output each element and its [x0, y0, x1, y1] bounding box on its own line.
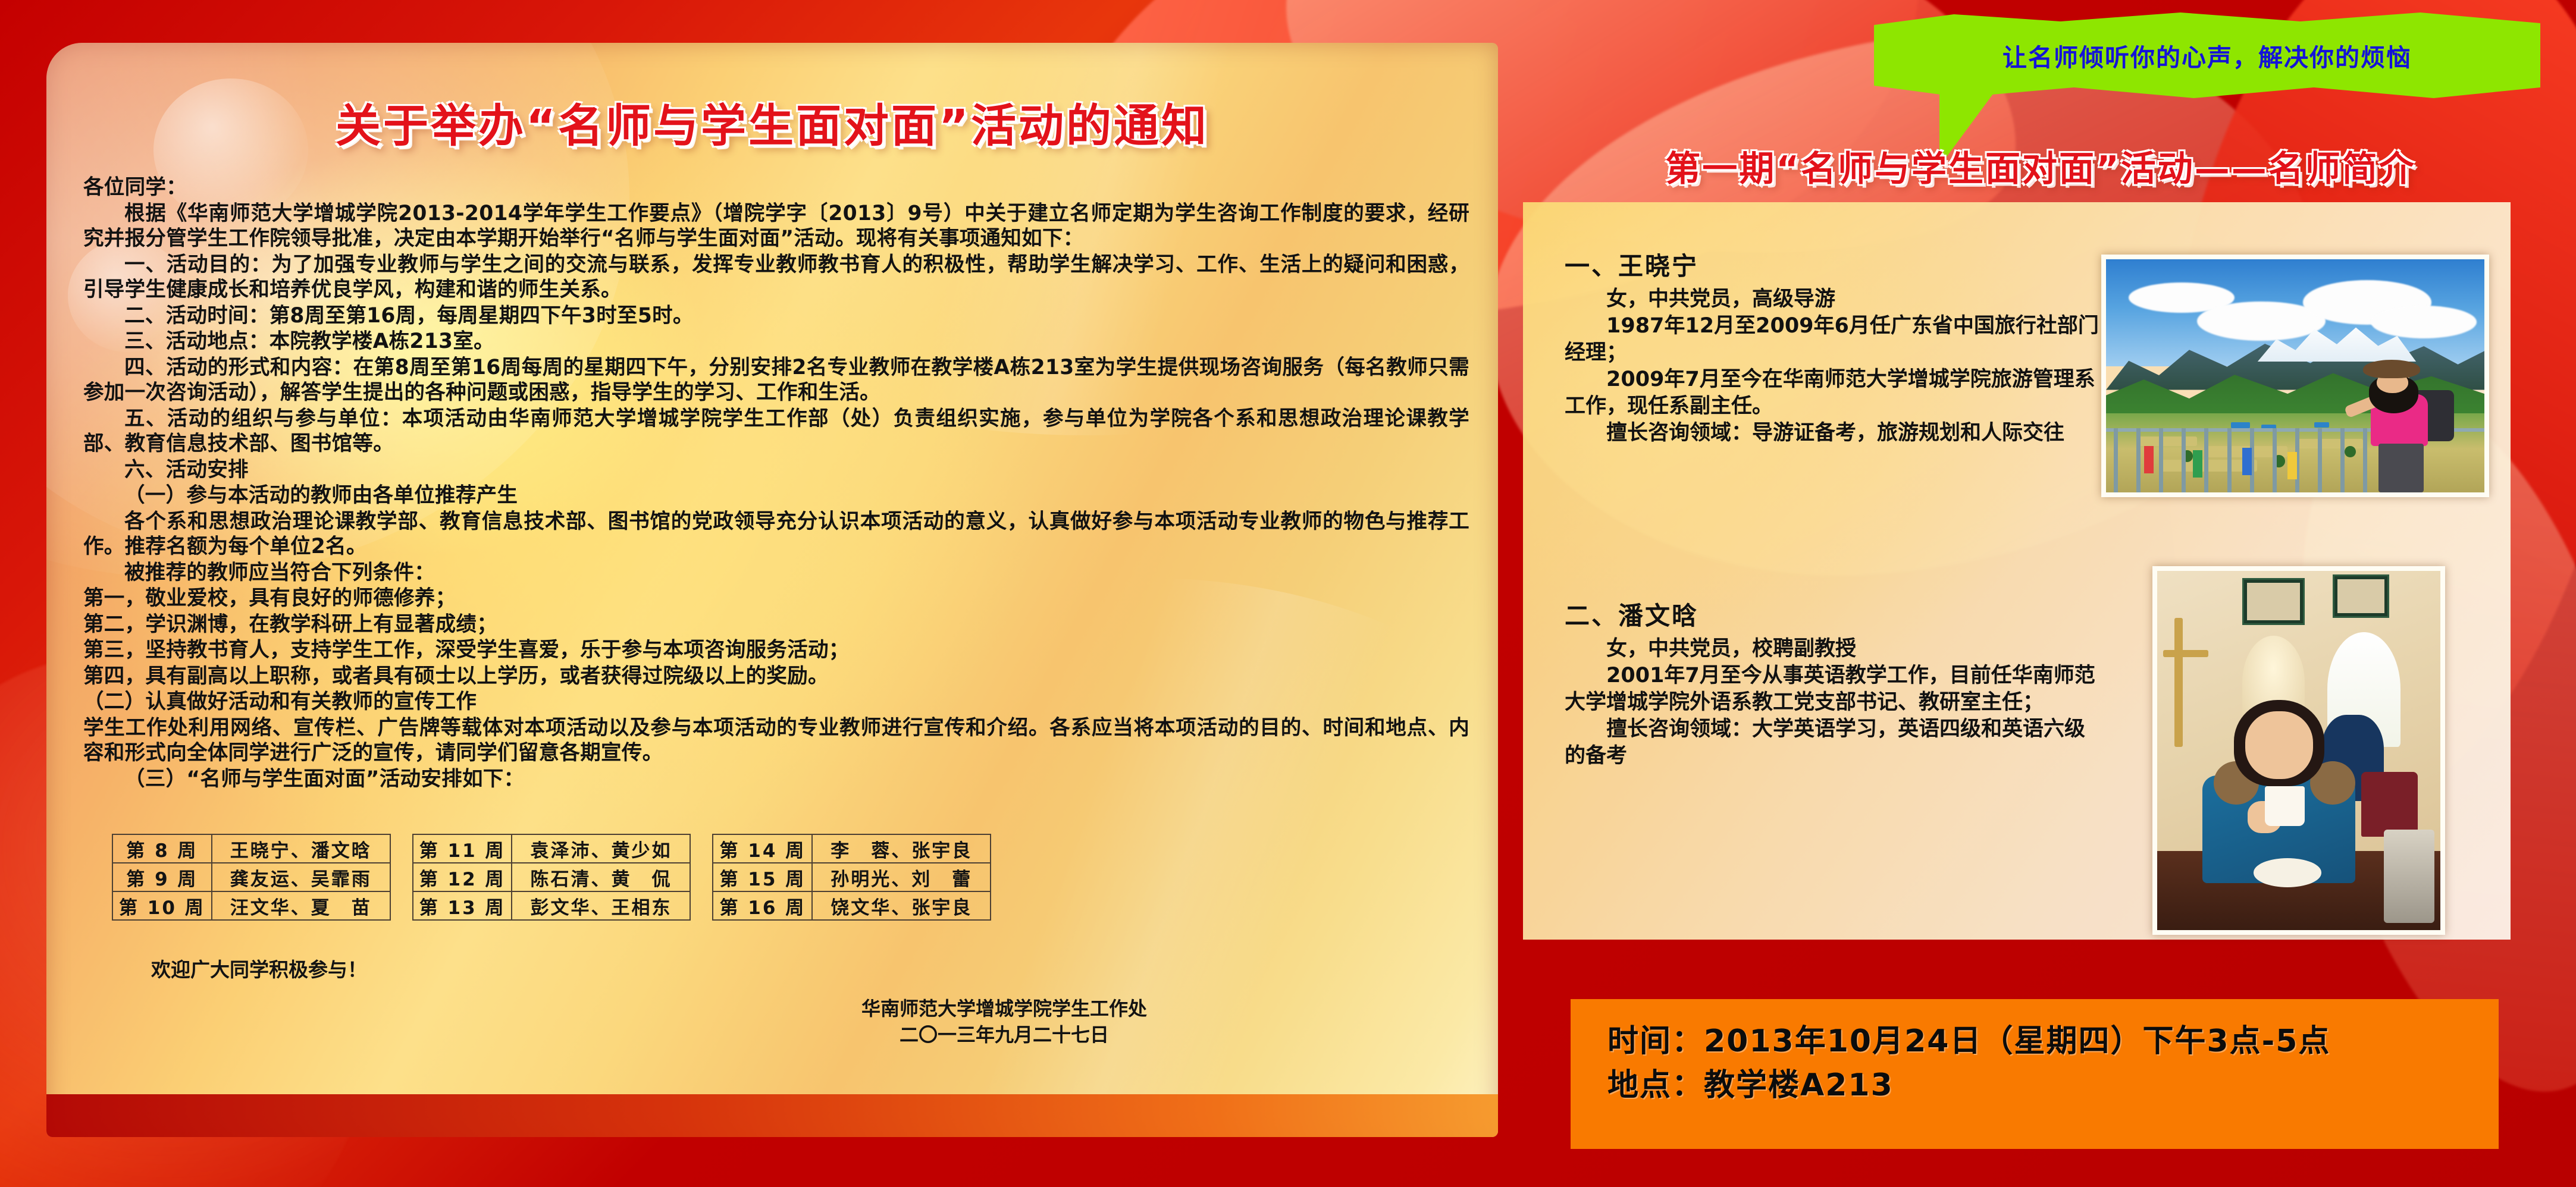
photo1-railing-bar	[2227, 428, 2232, 492]
teachers-cell: 陈石清、黄 侃	[512, 863, 690, 891]
callout-text: 让名师倾听你的心声，解决你的烦恼	[2002, 37, 2412, 73]
bottom-accent-strip	[46, 1094, 1498, 1137]
photo2-picture-frame	[2242, 578, 2305, 625]
week-cell: 第 14 周	[713, 834, 812, 863]
green-callout-banner: 让名师倾听你的心声，解决你的烦恼	[1874, 11, 2540, 100]
teacher-name: 二、潘文晗	[1565, 596, 2100, 632]
right-panel-title: 第一期“名师与学生面对面”活动——名师简介	[1565, 140, 2517, 191]
notice-paragraph: 第三，坚持教书育人，支持学生工作，深受学生喜爱，乐于参与本项咨询服务活动；	[83, 638, 1469, 663]
teachers-cell: 饶文华、张宇良	[812, 891, 991, 920]
photo2-face	[2245, 711, 2313, 780]
notice-paragraph: 第一，敬业爱校，具有良好的师德修养；	[83, 586, 1469, 611]
bio-line: 女，中共党员，校聘副教授	[1565, 636, 2100, 662]
table-row: 第 12 周 陈石清、黄 侃	[413, 863, 691, 891]
photo1-railing-bar	[2114, 428, 2118, 492]
table-row: 第 11 周 袁泽沛、黄少如	[413, 834, 691, 863]
bio-line: 1987年12月至2009年6月任广东省中国旅行社部门经理；	[1565, 313, 2100, 366]
week-cell: 第 12 周	[413, 863, 512, 891]
event-time: 时间：2013年10月24日（星期四）下午3点-5点	[1607, 1019, 2499, 1063]
schedule-table-1: 第 8 周 王晓宁、潘文晗 第 9 周 龚友运、吴霏雨 第 10 周 汪文华、夏…	[112, 834, 391, 921]
teacher-bio: 女，中共党员，校聘副教授 2001年7月至今从事英语教学工作，目前任华南师范大学…	[1565, 636, 2100, 770]
teacher-profile-1: 一、王晓宁 女，中共党员，高级导游 1987年12月至2009年6月任广东省中国…	[1565, 246, 2100, 447]
bio-line: 擅长咨询领域：大学英语学习，英语四级和英语六级的备考	[1565, 716, 2100, 770]
week-cell: 第 9 周	[112, 863, 212, 891]
photo2-coat-rack	[2174, 618, 2183, 747]
photo1-pants	[2378, 444, 2424, 492]
week-cell: 第 15 周	[713, 863, 812, 891]
schedule-table-2: 第 11 周 袁泽沛、黄少如 第 12 周 陈石清、黄 侃 第 13 周 彭文华…	[412, 834, 691, 921]
photo1-railing-bar	[2204, 428, 2208, 492]
notice-paragraph: 四、活动的形式和内容：在第8周至第16周每周的星期四下午，分别安排2名专业教师在…	[83, 355, 1469, 406]
notice-paragraph: 二、活动时间：第8周至第16周，每周星期四下午3时至5时。	[83, 303, 1469, 329]
table-row: 第 16 周 饶文华、张宇良	[713, 891, 991, 920]
teacher-photo-1	[2101, 255, 2489, 497]
notice-paragraph: （一）参与本活动的教师由各单位推荐产生	[83, 483, 1469, 508]
table-row: 第 9 周 龚友运、吴霏雨	[112, 863, 390, 891]
bio-line: 女，中共党员，高级导游	[1565, 286, 2100, 313]
table-row: 第 13 周 彭文华、王相东	[413, 891, 691, 920]
notice-paragraph: 六、活动安排	[83, 457, 1469, 483]
poster-canvas: 关于举办“名师与学生面对面”活动的通知 各位同学： 根据《华南师范大学增城学院2…	[0, 0, 2576, 1187]
photo2-metal-pot	[2384, 830, 2435, 923]
photo2-coffee-cup	[2265, 786, 2305, 825]
table-row: 第 15 周 孙明光、刘 蕾	[713, 863, 991, 891]
photo1-prayer-flag	[2287, 452, 2297, 479]
signature-org: 华南师范大学增城学院学生工作处	[748, 996, 1260, 1022]
signature-date: 二〇一三年九月二十七日	[748, 1022, 1260, 1048]
notice-paragraph: 根据《华南师范大学增城学院2013-2014学年学生工作要点》（增院学字〔201…	[83, 201, 1469, 252]
teachers-cell: 彭文华、王相东	[512, 891, 690, 920]
photo2-saucer	[2254, 858, 2321, 887]
table-row: 第 14 周 李 蓉、张宇良	[713, 834, 991, 863]
teachers-cell: 袁泽沛、黄少如	[512, 834, 690, 863]
notice-paragraph: 一、活动目的：为了加强专业教师与学生之间的交流与联系，发挥专业教师教书育人的积极…	[83, 252, 1469, 303]
bio-line: 2001年7月至今从事英语教学工作，目前任华南师范大学增城学院外语系教工党支部书…	[1565, 662, 2100, 716]
teacher-profile-2: 二、潘文晗 女，中共党员，校聘副教授 2001年7月至今从事英语教学工作，目前任…	[1565, 596, 2100, 770]
photo1-railing-bar	[2273, 428, 2277, 492]
notice-title: 关于举办“名师与学生面对面”活动的通知	[46, 89, 1498, 155]
table-row: 第 10 周 汪文华、夏 苗	[112, 891, 390, 920]
notice-body: 各位同学： 根据《华南师范大学增城学院2013-2014学年学生工作要点》（增院…	[83, 175, 1469, 792]
photo1-prayer-flag	[2242, 448, 2252, 475]
week-cell: 第 10 周	[112, 891, 212, 920]
notice-paragraph: 第二，学识渊博，在教学科研上有显著成绩；	[83, 612, 1469, 638]
photo1-hat	[2363, 360, 2420, 378]
event-place: 地点：教学楼A213	[1607, 1063, 2499, 1107]
photo1-cloud	[2371, 306, 2477, 338]
photo2-picture-frame	[2333, 574, 2389, 617]
photo1-railing-bar	[2363, 428, 2367, 492]
event-info-box: 时间：2013年10月24日（星期四）下午3点-5点 地点：教学楼A213	[1571, 999, 2499, 1149]
week-cell: 第 13 周	[413, 891, 512, 920]
week-cell: 第 8 周	[112, 834, 212, 863]
photo1-railing-bar	[2340, 428, 2345, 492]
notice-paragraph: 三、活动地点：本院教学楼A栋213室。	[83, 329, 1469, 354]
notice-paragraph: （三）“名师与学生面对面”活动安排如下：	[83, 767, 1469, 792]
photo1-railing-bar	[2318, 428, 2322, 492]
notice-paragraph: （二）认真做好活动和有关教师的宣传工作	[83, 689, 1469, 715]
teacher-name: 一、王晓宁	[1565, 246, 2100, 282]
table-row: 第 8 周 王晓宁、潘文晗	[112, 834, 390, 863]
notice-paragraph: 被推荐的教师应当符合下列条件：	[83, 560, 1469, 586]
teacher-photo-2	[2152, 566, 2445, 935]
teachers-cell: 王晓宁、潘文晗	[212, 834, 390, 863]
welcome-text: 欢迎广大同学积极参与！	[151, 954, 367, 982]
photo1-railing-bar	[2159, 428, 2163, 492]
week-cell: 第 16 周	[713, 891, 812, 920]
notice-paragraph: 学生工作处利用网络、宣传栏、广告牌等载体对本项活动以及参与本项活动的专业教师进行…	[83, 715, 1469, 766]
photo1-prayer-flag	[2144, 446, 2154, 473]
teachers-cell: 汪文华、夏 苗	[212, 891, 390, 920]
teachers-cell: 孙明光、刘 蕾	[812, 863, 991, 891]
teachers-cell: 龚友运、吴霏雨	[212, 863, 390, 891]
teachers-cell: 李 蓉、张宇良	[812, 834, 991, 863]
photo2-coat-rack-arm	[2163, 650, 2208, 657]
notice-paragraph: 第四，具有副高以上职称，或者具有硕士以上学历，或者获得过院级以上的奖励。	[83, 664, 1469, 689]
signature-block: 华南师范大学增城学院学生工作处 二〇一三年九月二十七日	[748, 996, 1260, 1048]
photo1-railing-bar	[2136, 428, 2141, 492]
schedule-tables: 第 8 周 王晓宁、潘文晗 第 9 周 龚友运、吴霏雨 第 10 周 汪文华、夏…	[112, 834, 991, 921]
teacher-bio: 女，中共党员，高级导游 1987年12月至2009年6月任广东省中国旅行社部门经…	[1565, 286, 2100, 447]
notice-panel: 关于举办“名师与学生面对面”活动的通知 各位同学： 根据《华南师范大学增城学院2…	[46, 43, 1498, 1137]
bio-line: 擅长咨询领域：导游证备考，旅游规划和人际交往	[1565, 420, 2100, 447]
salutation: 各位同学：	[83, 175, 1469, 200]
photo2-chair	[2361, 772, 2418, 837]
notice-paragraph: 五、活动的组织与参与单位：本项活动由华南师范大学增城学院学生工作部（处）负责组织…	[83, 406, 1469, 457]
photo1-railing-bar	[2182, 428, 2186, 492]
notice-paragraph: 各个系和思想政治理论课教学部、教育信息技术部、图书馆的党政领导充分认识本项活动的…	[83, 509, 1469, 560]
photo1-prayer-flag	[2193, 450, 2202, 478]
bio-line: 2009年7月至今在华南师范大学增城学院旅游管理系工作，现任系副主任。	[1565, 366, 2100, 420]
schedule-table-3: 第 14 周 李 蓉、张宇良 第 15 周 孙明光、刘 蕾 第 16 周 饶文华…	[712, 834, 991, 921]
week-cell: 第 11 周	[413, 834, 512, 863]
